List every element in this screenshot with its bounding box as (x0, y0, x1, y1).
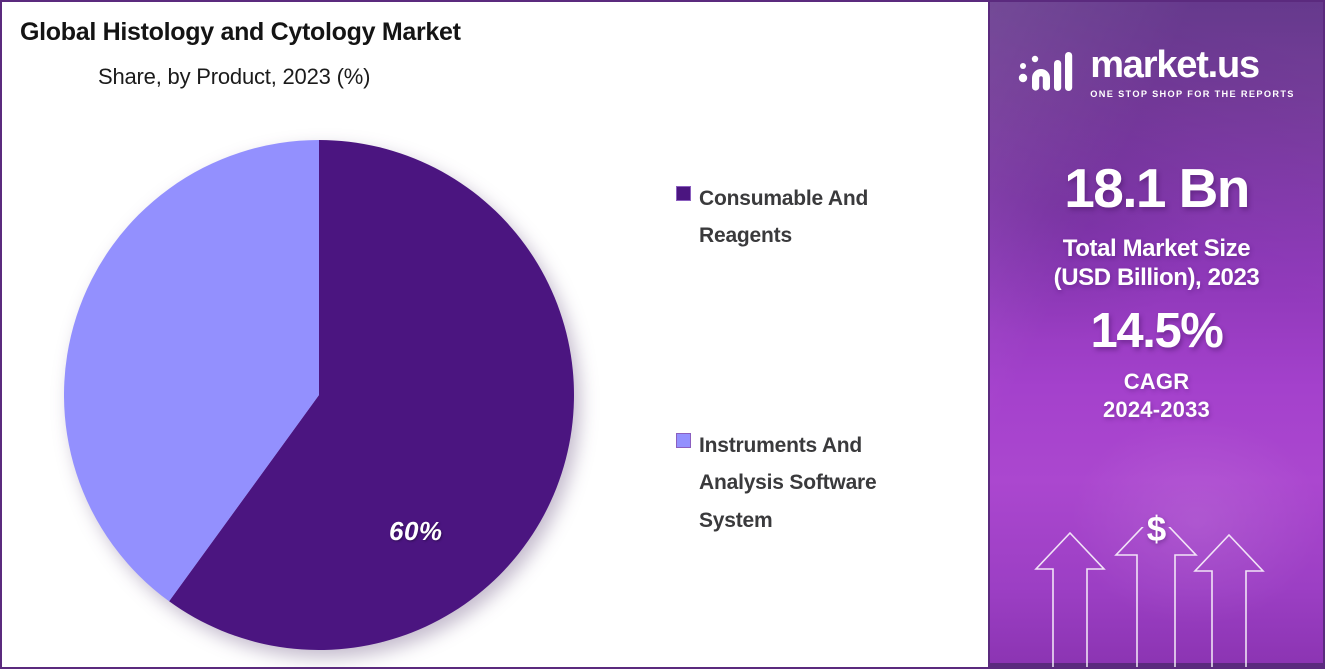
pie-svg (64, 140, 574, 650)
brand-tagline: ONE STOP SHOP FOR THE REPORTS (1090, 89, 1295, 99)
chart-panel: Global Histology and Cytology Market Sha… (2, 2, 990, 667)
cagr-label-line1: CAGR (1124, 369, 1190, 394)
legend-swatch-instruments-icon (676, 433, 691, 448)
brand-logo[interactable]: market.us ONE STOP SHOP FOR THE REPORTS (1018, 46, 1295, 99)
stats-panel: market.us ONE STOP SHOP FOR THE REPORTS … (990, 2, 1323, 667)
cagr-label-line2: 2024-2033 (1103, 397, 1210, 422)
market-size-caption-line1: Total Market Size (1063, 235, 1250, 262)
legend-item-consumable[interactable]: Consumable And Reagents (676, 180, 966, 255)
cagr-value: 14.5% (1091, 307, 1223, 356)
market-us-logo-icon (1018, 48, 1080, 97)
infographic-container: Global Histology and Cytology Market Sha… (0, 0, 1325, 669)
brand-text-block: market.us ONE STOP SHOP FOR THE REPORTS (1090, 46, 1295, 99)
market-size-caption-line2: (USD Billion), 2023 (1054, 264, 1260, 291)
legend-label-instruments: Instruments And Analysis Software System (699, 427, 949, 539)
legend-swatch-consumable-icon (676, 186, 691, 201)
brand-name: market.us (1090, 46, 1259, 84)
cagr-label: CAGR 2024-2033 (1103, 368, 1210, 424)
market-size-value: 18.1 Bn (1064, 161, 1248, 216)
pie-chart: 60% (64, 140, 574, 650)
chart-subtitle: Share, by Product, 2023 (%) (98, 64, 370, 90)
chart-legend: Consumable And Reagents Instruments And … (676, 180, 966, 539)
legend-item-instruments[interactable]: Instruments And Analysis Software System (676, 427, 966, 539)
market-size-caption: Total Market Size (USD Billion), 2023 (1054, 234, 1260, 293)
legend-label-consumable: Consumable And Reagents (699, 180, 949, 255)
page-title: Global Histology and Cytology Market (20, 18, 461, 47)
pie-slice-value-label: 60% (389, 516, 443, 547)
dollar-sign-icon: $ (990, 510, 1323, 550)
pie-slices (64, 140, 574, 650)
